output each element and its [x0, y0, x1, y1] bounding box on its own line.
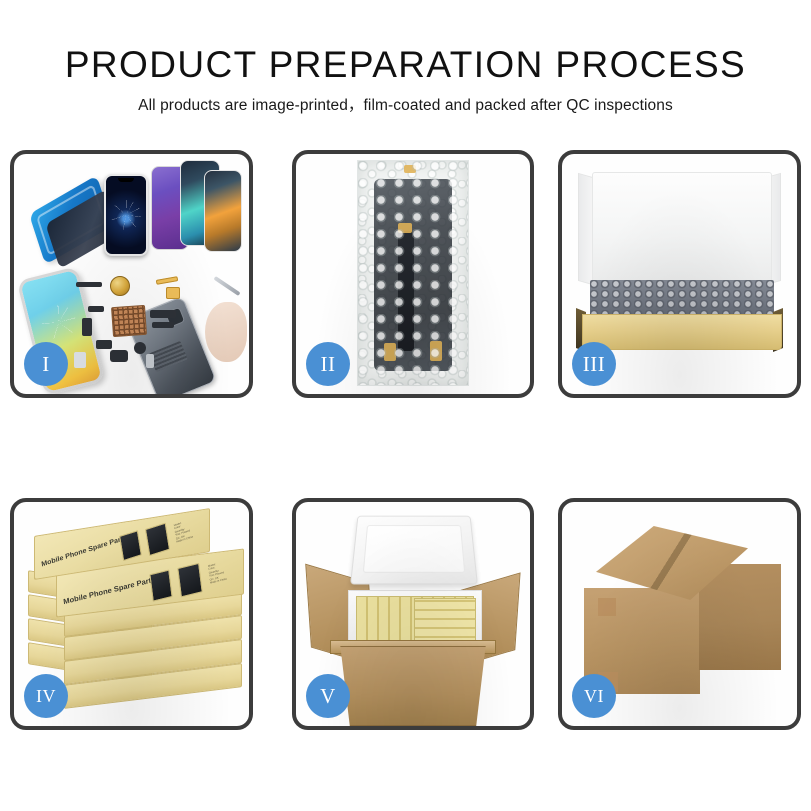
technician-hand [205, 302, 247, 362]
product-preparation-infographic: PRODUCT PREPARATION PROCESS All products… [0, 0, 811, 811]
step-badge-1: I [24, 342, 68, 386]
phone-screen-black [104, 174, 148, 256]
tape-tab-top [404, 165, 416, 173]
part-camera-ring [134, 342, 146, 354]
flex-cable-2 [166, 287, 180, 299]
tweezers-icon [213, 276, 240, 296]
page-title: PRODUCT PREPARATION PROCESS [0, 46, 811, 83]
inner-boxes-row-right [414, 598, 476, 646]
tape-tab-mid [398, 223, 412, 233]
header: PRODUCT PREPARATION PROCESS All products… [0, 0, 811, 140]
part-flex-strip [150, 310, 176, 318]
step-panel-1: I [10, 150, 253, 398]
box-kraft-tray [582, 314, 782, 350]
box-spec-text-2: Model: Color: Quantity: Test: Passed QC:… [208, 561, 227, 585]
foam-cooler-lid [350, 516, 478, 585]
step-panel-6: VI [558, 498, 801, 730]
part-connector-2 [82, 318, 92, 336]
connector-chip-grid [111, 305, 147, 337]
page-subtitle: All products are image-printed，film-coat… [0, 93, 811, 115]
speaker-part-icon [110, 276, 130, 296]
part-speaker-mesh [110, 350, 128, 362]
tape-tab-right [430, 341, 442, 361]
cracked-glass-pattern [111, 200, 141, 230]
step-badge-2: II [306, 342, 350, 386]
wrapped-flex-cable [398, 231, 414, 351]
bubble-wrap-bag [357, 160, 469, 386]
box-window-2b [177, 563, 202, 598]
box-white-lid [592, 172, 772, 290]
phone-notch [118, 178, 134, 182]
steps-grid: I II [0, 140, 811, 740]
battery-strip [149, 341, 188, 372]
part-bar-1 [76, 282, 102, 287]
step-badge-5: V [306, 674, 350, 718]
box-window-2a [149, 570, 172, 602]
carton-tape-patch-upper [598, 598, 616, 616]
phone-screen-orange [204, 170, 242, 252]
step-panel-4: Mobile Phone Spare Parts Model: Color: Q… [10, 498, 253, 730]
step-panel-2: II [292, 150, 534, 398]
part-tray [74, 352, 86, 368]
tape-tab-left [384, 343, 396, 361]
step-panel-5: V [292, 498, 534, 730]
step-badge-4: IV [24, 674, 68, 718]
part-button [96, 340, 112, 349]
part-sim-tool [146, 354, 154, 368]
bubble-foam-padding [590, 280, 774, 318]
step-badge-6: VI [572, 674, 616, 718]
flex-cable-1 [156, 276, 179, 285]
step-badge-3: III [572, 342, 616, 386]
part-connector-1 [88, 306, 104, 312]
part-flex-strip-2 [152, 322, 174, 328]
carton-body [334, 646, 492, 726]
step-panel-3: III [558, 150, 801, 398]
